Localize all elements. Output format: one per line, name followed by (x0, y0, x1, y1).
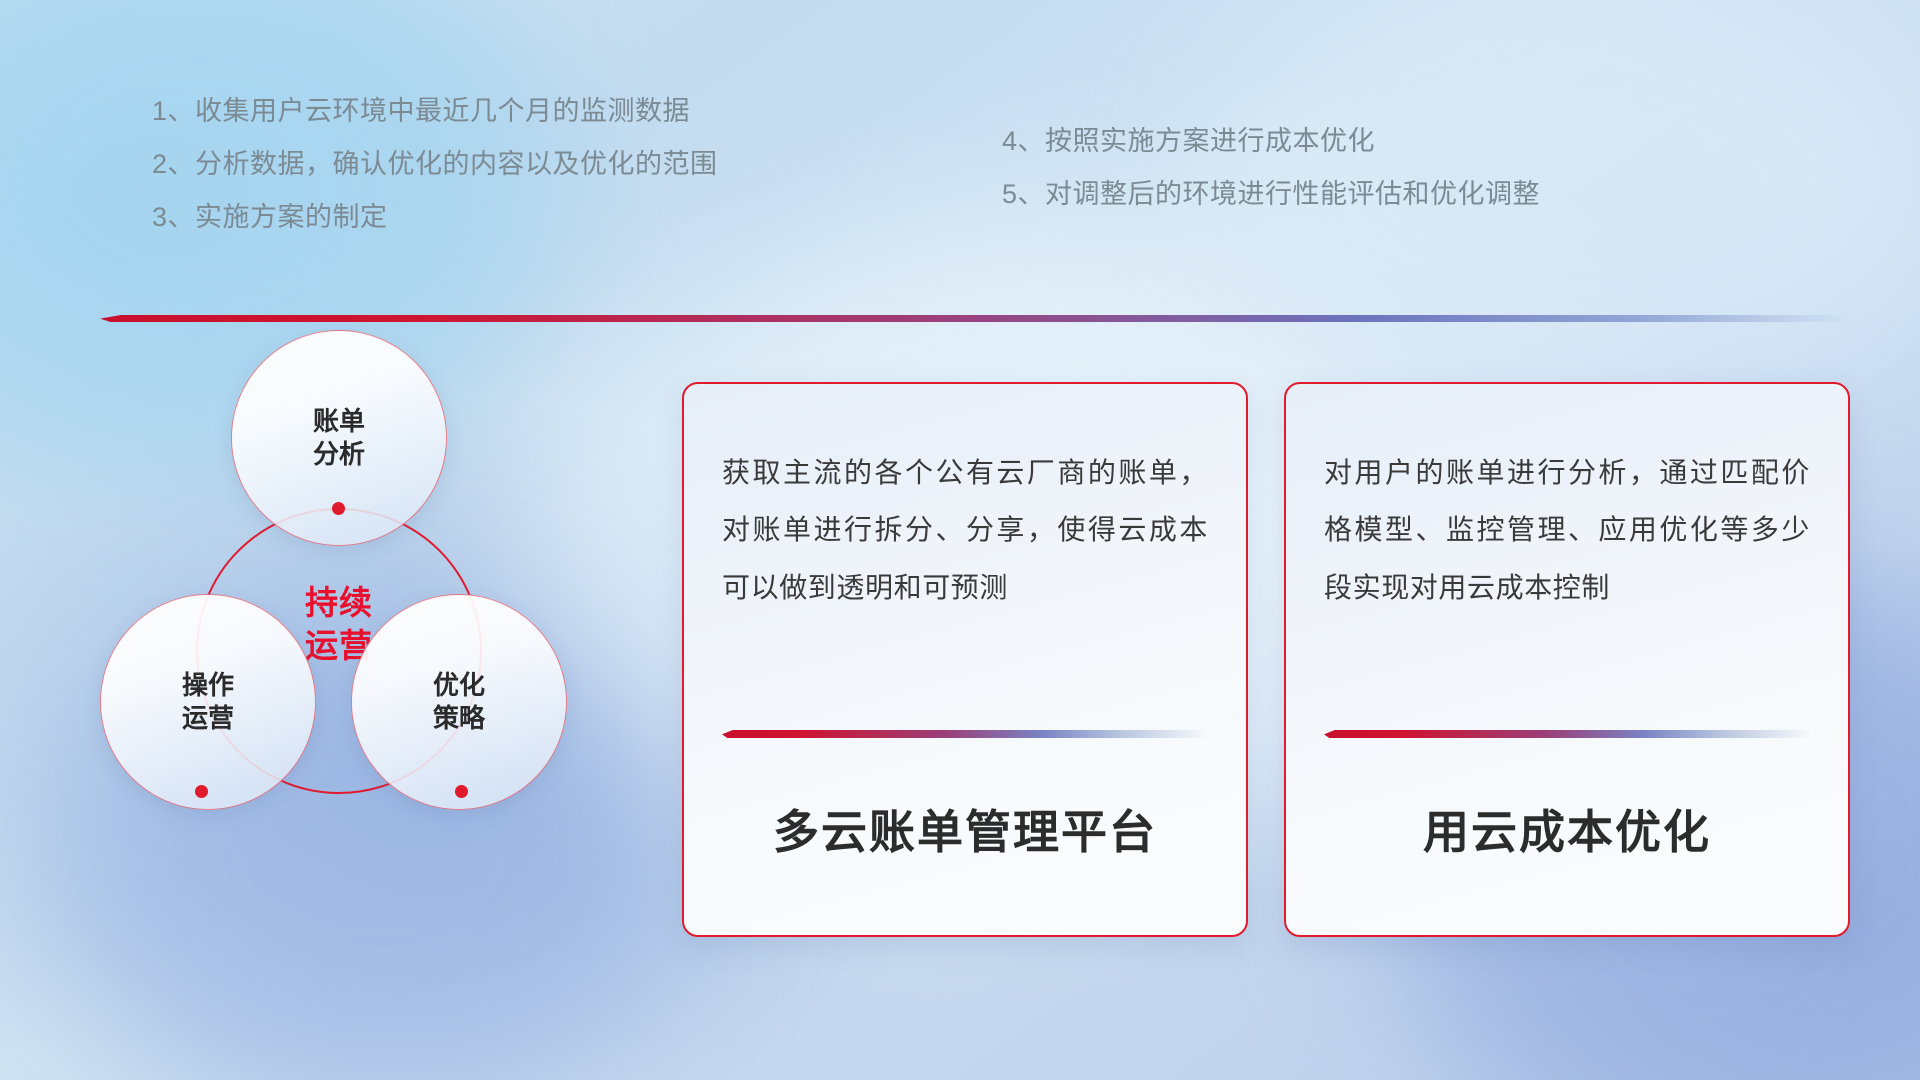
card-multi-cloud-billing-platform[interactable]: 获取主流的各个公有云厂商的账单，对账单进行拆分、分享，使得云成本可以做到透明和可… (682, 382, 1248, 937)
diagram-bubble-optimization-strategy[interactable]: 优化 策略 (351, 594, 567, 810)
step-item-1: 1、收集用户云环境中最近几个月的监测数据 (152, 98, 718, 125)
diagram-node-dot-left (195, 785, 208, 798)
card-divider-rule-1 (722, 730, 1208, 738)
background-blob-top-right (1200, 0, 1920, 420)
card-title-1: 多云账单管理平台 (722, 796, 1208, 862)
diagram-node-dot-top (332, 502, 345, 515)
step-item-2: 2、分析数据，确认优化的内容以及优化的范围 (152, 151, 718, 178)
section-divider-rule (100, 315, 1850, 322)
step-item-3: 3、实施方案的制定 (152, 204, 718, 231)
continuous-operations-diagram: 持续 运营 账单 分析 操作 运营 优化 策略 (100, 330, 620, 950)
diagram-node-dot-right (455, 785, 468, 798)
card-cloud-cost-optimization[interactable]: 对用户的账单进行分析，通过匹配价格模型、监控管理、应用优化等多少段实现对用云成本… (1284, 382, 1850, 937)
steps-list-left: 1、收集用户云环境中最近几个月的监测数据 2、分析数据，确认优化的内容以及优化的… (152, 98, 718, 231)
card-body-text-2: 对用户的账单进行分析，通过匹配价格模型、监控管理、应用优化等多少段实现对用云成本… (1324, 444, 1810, 702)
slide-canvas: 1、收集用户云环境中最近几个月的监测数据 2、分析数据，确认优化的内容以及优化的… (0, 0, 1920, 1080)
card-divider-rule-2 (1324, 730, 1810, 738)
step-item-5: 5、对调整后的环境进行性能评估和优化调整 (1002, 181, 1540, 208)
bubble-label-bill-analysis: 账单 分析 (313, 405, 365, 472)
step-item-4: 4、按照实施方案进行成本优化 (1002, 128, 1540, 155)
steps-list-right: 4、按照实施方案进行成本优化 5、对调整后的环境进行性能评估和优化调整 (1002, 128, 1540, 208)
card-body-text-1: 获取主流的各个公有云厂商的账单，对账单进行拆分、分享，使得云成本可以做到透明和可… (722, 444, 1208, 702)
bubble-label-operations: 操作 运营 (182, 669, 234, 736)
card-title-2: 用云成本优化 (1324, 796, 1810, 862)
bubble-label-optimization-strategy: 优化 策略 (433, 669, 485, 736)
diagram-bubble-operations[interactable]: 操作 运营 (100, 594, 316, 810)
